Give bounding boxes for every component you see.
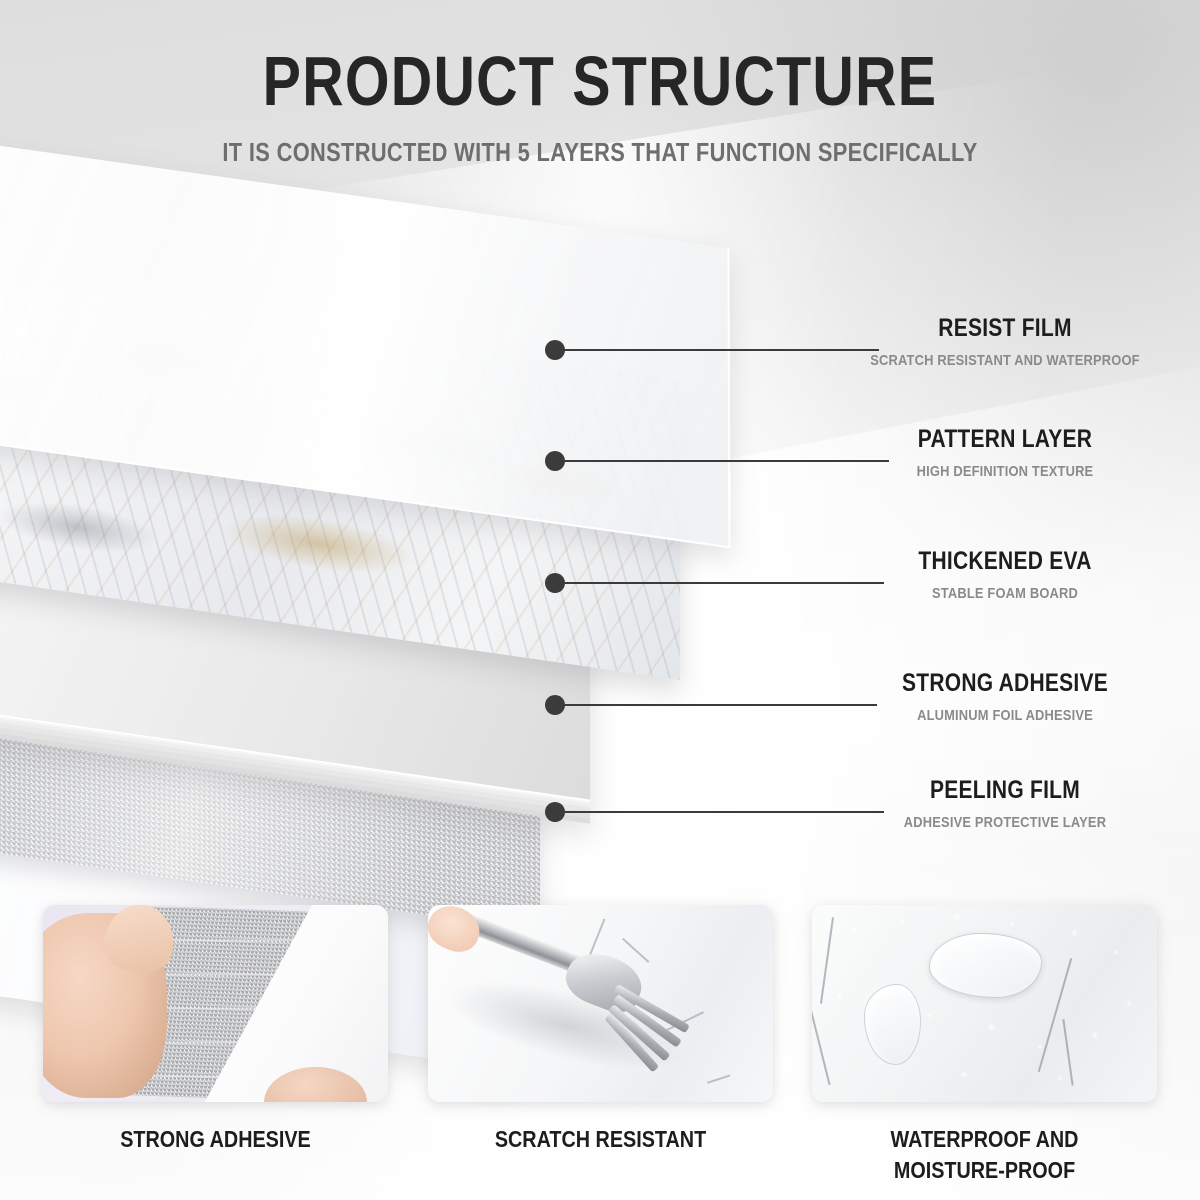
callout-text-block: PEELING FILM ADHESIVE PROTECTIVE LAYER [825,776,1185,831]
callout-title: STRONG ADHESIVE [854,669,1156,698]
feature-cards: STRONG ADHESIVE SCRATCH RESISTANT [0,900,1200,1200]
callout-subtitle: SCRATCH RESISTANT AND WATERPROOF [850,352,1160,369]
feature-caption: SCRATCH RESISTANT [452,1124,749,1155]
callout-title: RESIST FILM [854,314,1156,343]
hand-peeling-foil-backing-photo [43,905,388,1102]
feature-card-waterproof: WATERPROOF ANDMOISTURE-PROOF [812,905,1157,1186]
callout-subtitle: ADHESIVE PROTECTIVE LAYER [850,814,1160,831]
callout-text-block: RESIST FILM SCRATCH RESISTANT AND WATERP… [825,314,1185,369]
page-subtitle: IT IS CONSTRUCTED WITH 5 LAYERS THAT FUN… [96,137,1104,168]
feature-caption: STRONG ADHESIVE [67,1124,364,1155]
callout-text-block: PATTERN LAYER HIGH DEFINITION TEXTURE [825,425,1185,480]
callout-subtitle: HIGH DEFINITION TEXTURE [850,463,1160,480]
callout-text-block: THICKENED EVA STABLE FOAM BOARD [825,547,1185,602]
callout-title: PATTERN LAYER [854,425,1156,454]
callout-title: THICKENED EVA [854,547,1156,576]
feature-card-scratch-resistant: SCRATCH RESISTANT [428,905,773,1155]
callout-subtitle: ALUMINUM FOIL ADHESIVE [850,707,1160,724]
page-title: PRODUCT STRUCTURE [108,48,1092,115]
header: PRODUCT STRUCTURE IT IS CONSTRUCTED WITH… [0,48,1200,168]
fork-scratching-marble-surface-photo [428,905,773,1102]
callout-title: PEELING FILM [854,776,1156,805]
callout-subtitle: STABLE FOAM BOARD [850,585,1160,602]
feature-caption: WATERPROOF ANDMOISTURE-PROOF [836,1124,1133,1186]
feature-card-strong-adhesive: STRONG ADHESIVE [43,905,388,1155]
water-droplets-on-marble-photo [812,905,1157,1102]
callout-text-block: STRONG ADHESIVE ALUMINUM FOIL ADHESIVE [825,669,1185,724]
infographic-canvas: PRODUCT STRUCTURE IT IS CONSTRUCTED WITH… [0,0,1200,1200]
